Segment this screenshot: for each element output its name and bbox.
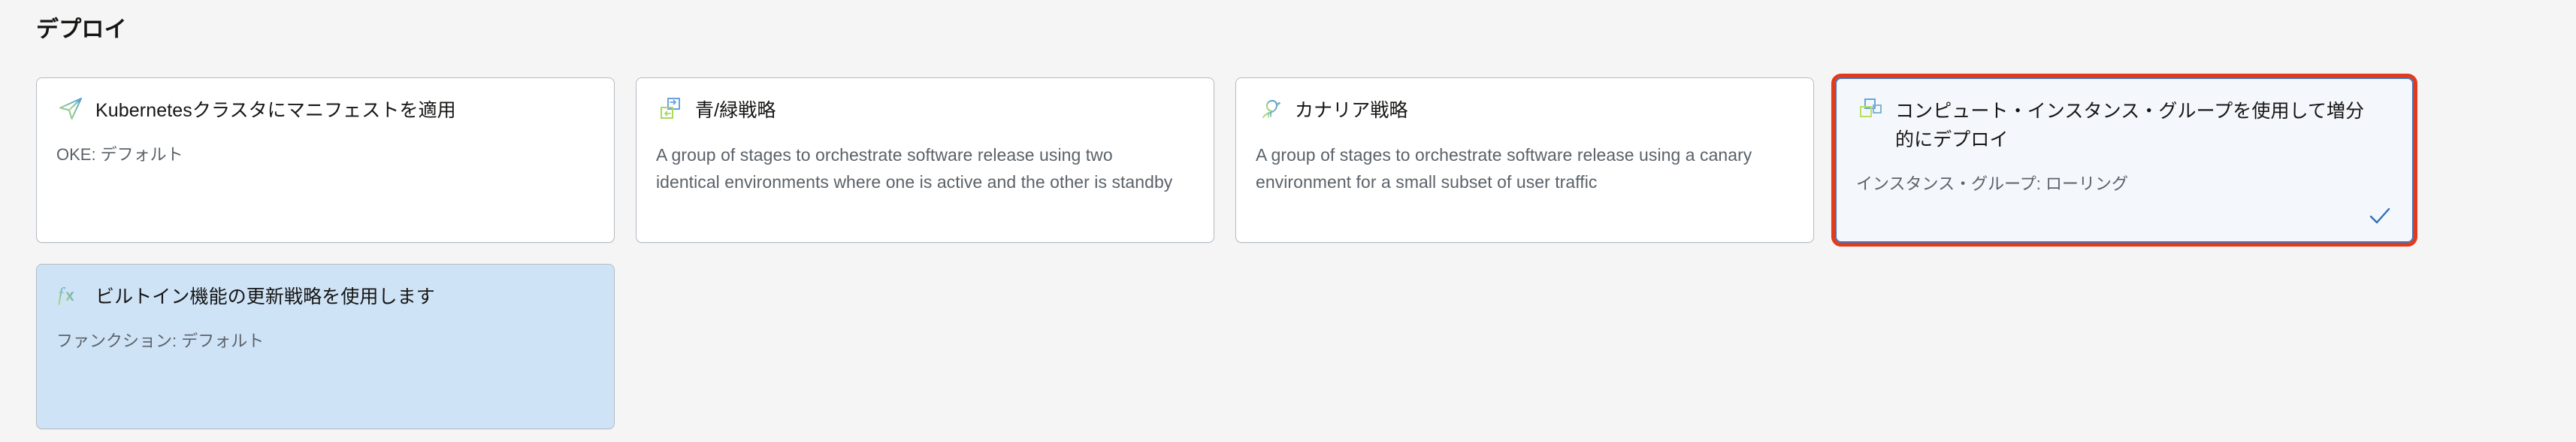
card-subtitle: インスタンス・グループ: ローリング [1856, 172, 2393, 196]
card-header: Kubernetesクラスタにマニフェストを適用 [56, 96, 594, 125]
paper-plane-icon [56, 94, 85, 123]
card-header: カナリア戦略 [1256, 96, 1794, 125]
card-title: Kubernetesクラスタにマニフェストを適用 [95, 96, 456, 125]
page-title: デプロイ [36, 15, 127, 45]
card-subtitle: OKE: デフォルト [56, 143, 594, 167]
fx-function-icon: f x [56, 280, 85, 309]
card-title: 青/緑戦略 [695, 96, 776, 125]
card-canary-strategy[interactable]: カナリア戦略 A group of stages to orchestrate … [1235, 77, 1814, 243]
card-function-builtin-update[interactable]: f x ビルトイン機能の更新戦略を使用します ファンクション: デフォルト [36, 264, 615, 429]
card-title: コンピュート・インスタンス・グループを使用して増分的にデプロイ [1895, 97, 2376, 154]
card-title: ビルトイン機能の更新戦略を使用します [95, 283, 435, 311]
deploy-strategy-card-grid: Kubernetesクラスタにマニフェストを適用 OKE: デフォルト 青/緑戦… [36, 77, 2418, 429]
blue-green-swap-icon [656, 94, 685, 123]
card-blue-green-strategy[interactable]: 青/緑戦略 A group of stages to orchestrate s… [636, 77, 1214, 243]
card-oke-apply-manifest[interactable]: Kubernetesクラスタにマニフェストを適用 OKE: デフォルト [36, 77, 615, 243]
card-header: コンピュート・インスタンス・グループを使用して増分的にデプロイ [1856, 97, 2393, 154]
card-title: カナリア戦略 [1295, 96, 1408, 125]
svg-text:f: f [58, 285, 65, 305]
canary-bird-icon [1256, 94, 1284, 123]
card-subtitle: ファンクション: デフォルト [56, 329, 594, 353]
svg-text:x: x [65, 287, 74, 304]
card-description: A group of stages to orchestrate softwar… [656, 141, 1175, 195]
card-header: f x ビルトイン機能の更新戦略を使用します [56, 283, 594, 311]
card-description: A group of stages to orchestrate softwar… [1256, 141, 1774, 195]
compute-instance-group-icon [1856, 95, 1885, 123]
selected-check-icon [2367, 204, 2393, 229]
card-instance-group-rolling[interactable]: コンピュート・インスタンス・グループを使用して増分的にデプロイ インスタンス・グ… [1835, 77, 2414, 243]
card-header: 青/緑戦略 [656, 96, 1194, 125]
deploy-stage-picker: デプロイ Kubernete [0, 0, 2576, 442]
